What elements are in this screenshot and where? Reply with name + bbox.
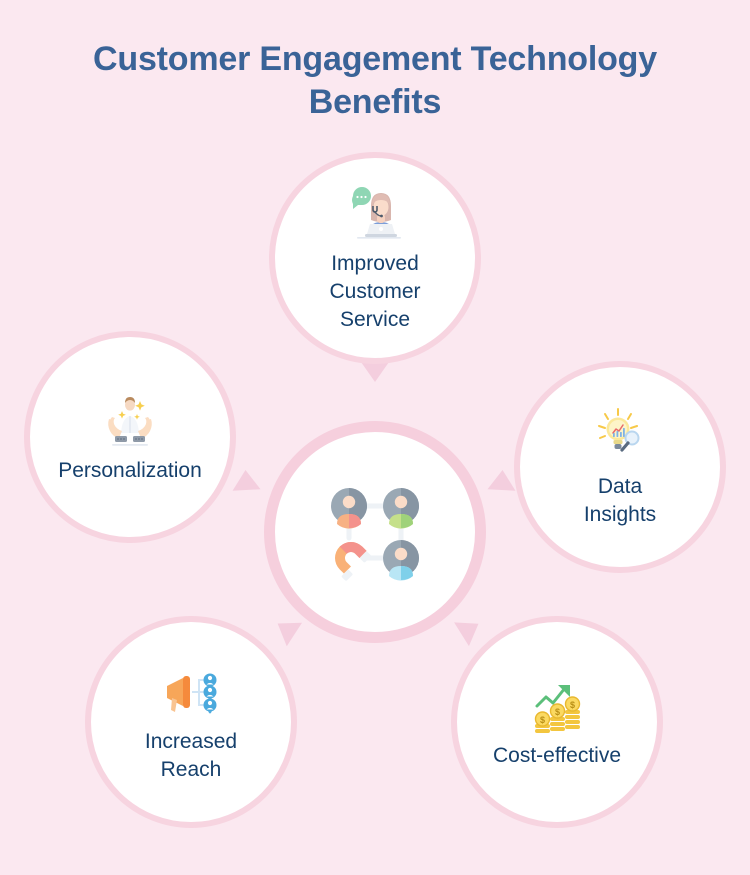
node-label-cost-effective: Cost-effective [481,742,633,770]
svg-text:$: $ [555,707,560,717]
node-data-insights[interactable]: Data Insights [514,361,726,573]
node-personalization[interactable]: Personalization [24,331,236,543]
node-cost-effective[interactable]: $ $ $ Cost-effective [451,616,663,828]
arrow-to-left-node [231,469,260,490]
customer-service-agent-icon [343,182,407,246]
megaphone-users-icon [159,660,223,724]
arrow-to-bottom-right-node [454,612,486,646]
arrow-to-right-node [487,469,516,490]
node-label-personalization: Personalization [46,457,214,485]
arrow-to-top-node [361,362,389,382]
node-label-improved-customer-service: Improved Customer Service [317,250,432,334]
arrow-to-bottom-left-node [270,612,302,646]
svg-text:$: $ [540,715,545,725]
node-increased-reach[interactable]: Increased Reach [85,616,297,828]
page-title-line-2: Benefits [55,81,695,124]
node-center-customer-engagement[interactable] [264,421,486,643]
coin-stack-growth-icon: $ $ $ [525,674,589,738]
node-label-data-insights: Data Insights [572,473,668,529]
node-improved-customer-service[interactable]: Improved Customer Service [269,152,481,364]
people-network-magnet-icon [323,480,427,584]
page-title-line-1: Customer Engagement Technology [55,38,695,81]
svg-text:$: $ [570,700,575,710]
hands-holding-person-icon [98,389,162,453]
infographic-canvas: Customer Engagement Technology Benefits [0,0,750,875]
lightbulb-chart-icon [588,405,652,469]
node-label-increased-reach: Increased Reach [133,728,249,784]
page-title: Customer Engagement Technology Benefits [55,38,695,124]
